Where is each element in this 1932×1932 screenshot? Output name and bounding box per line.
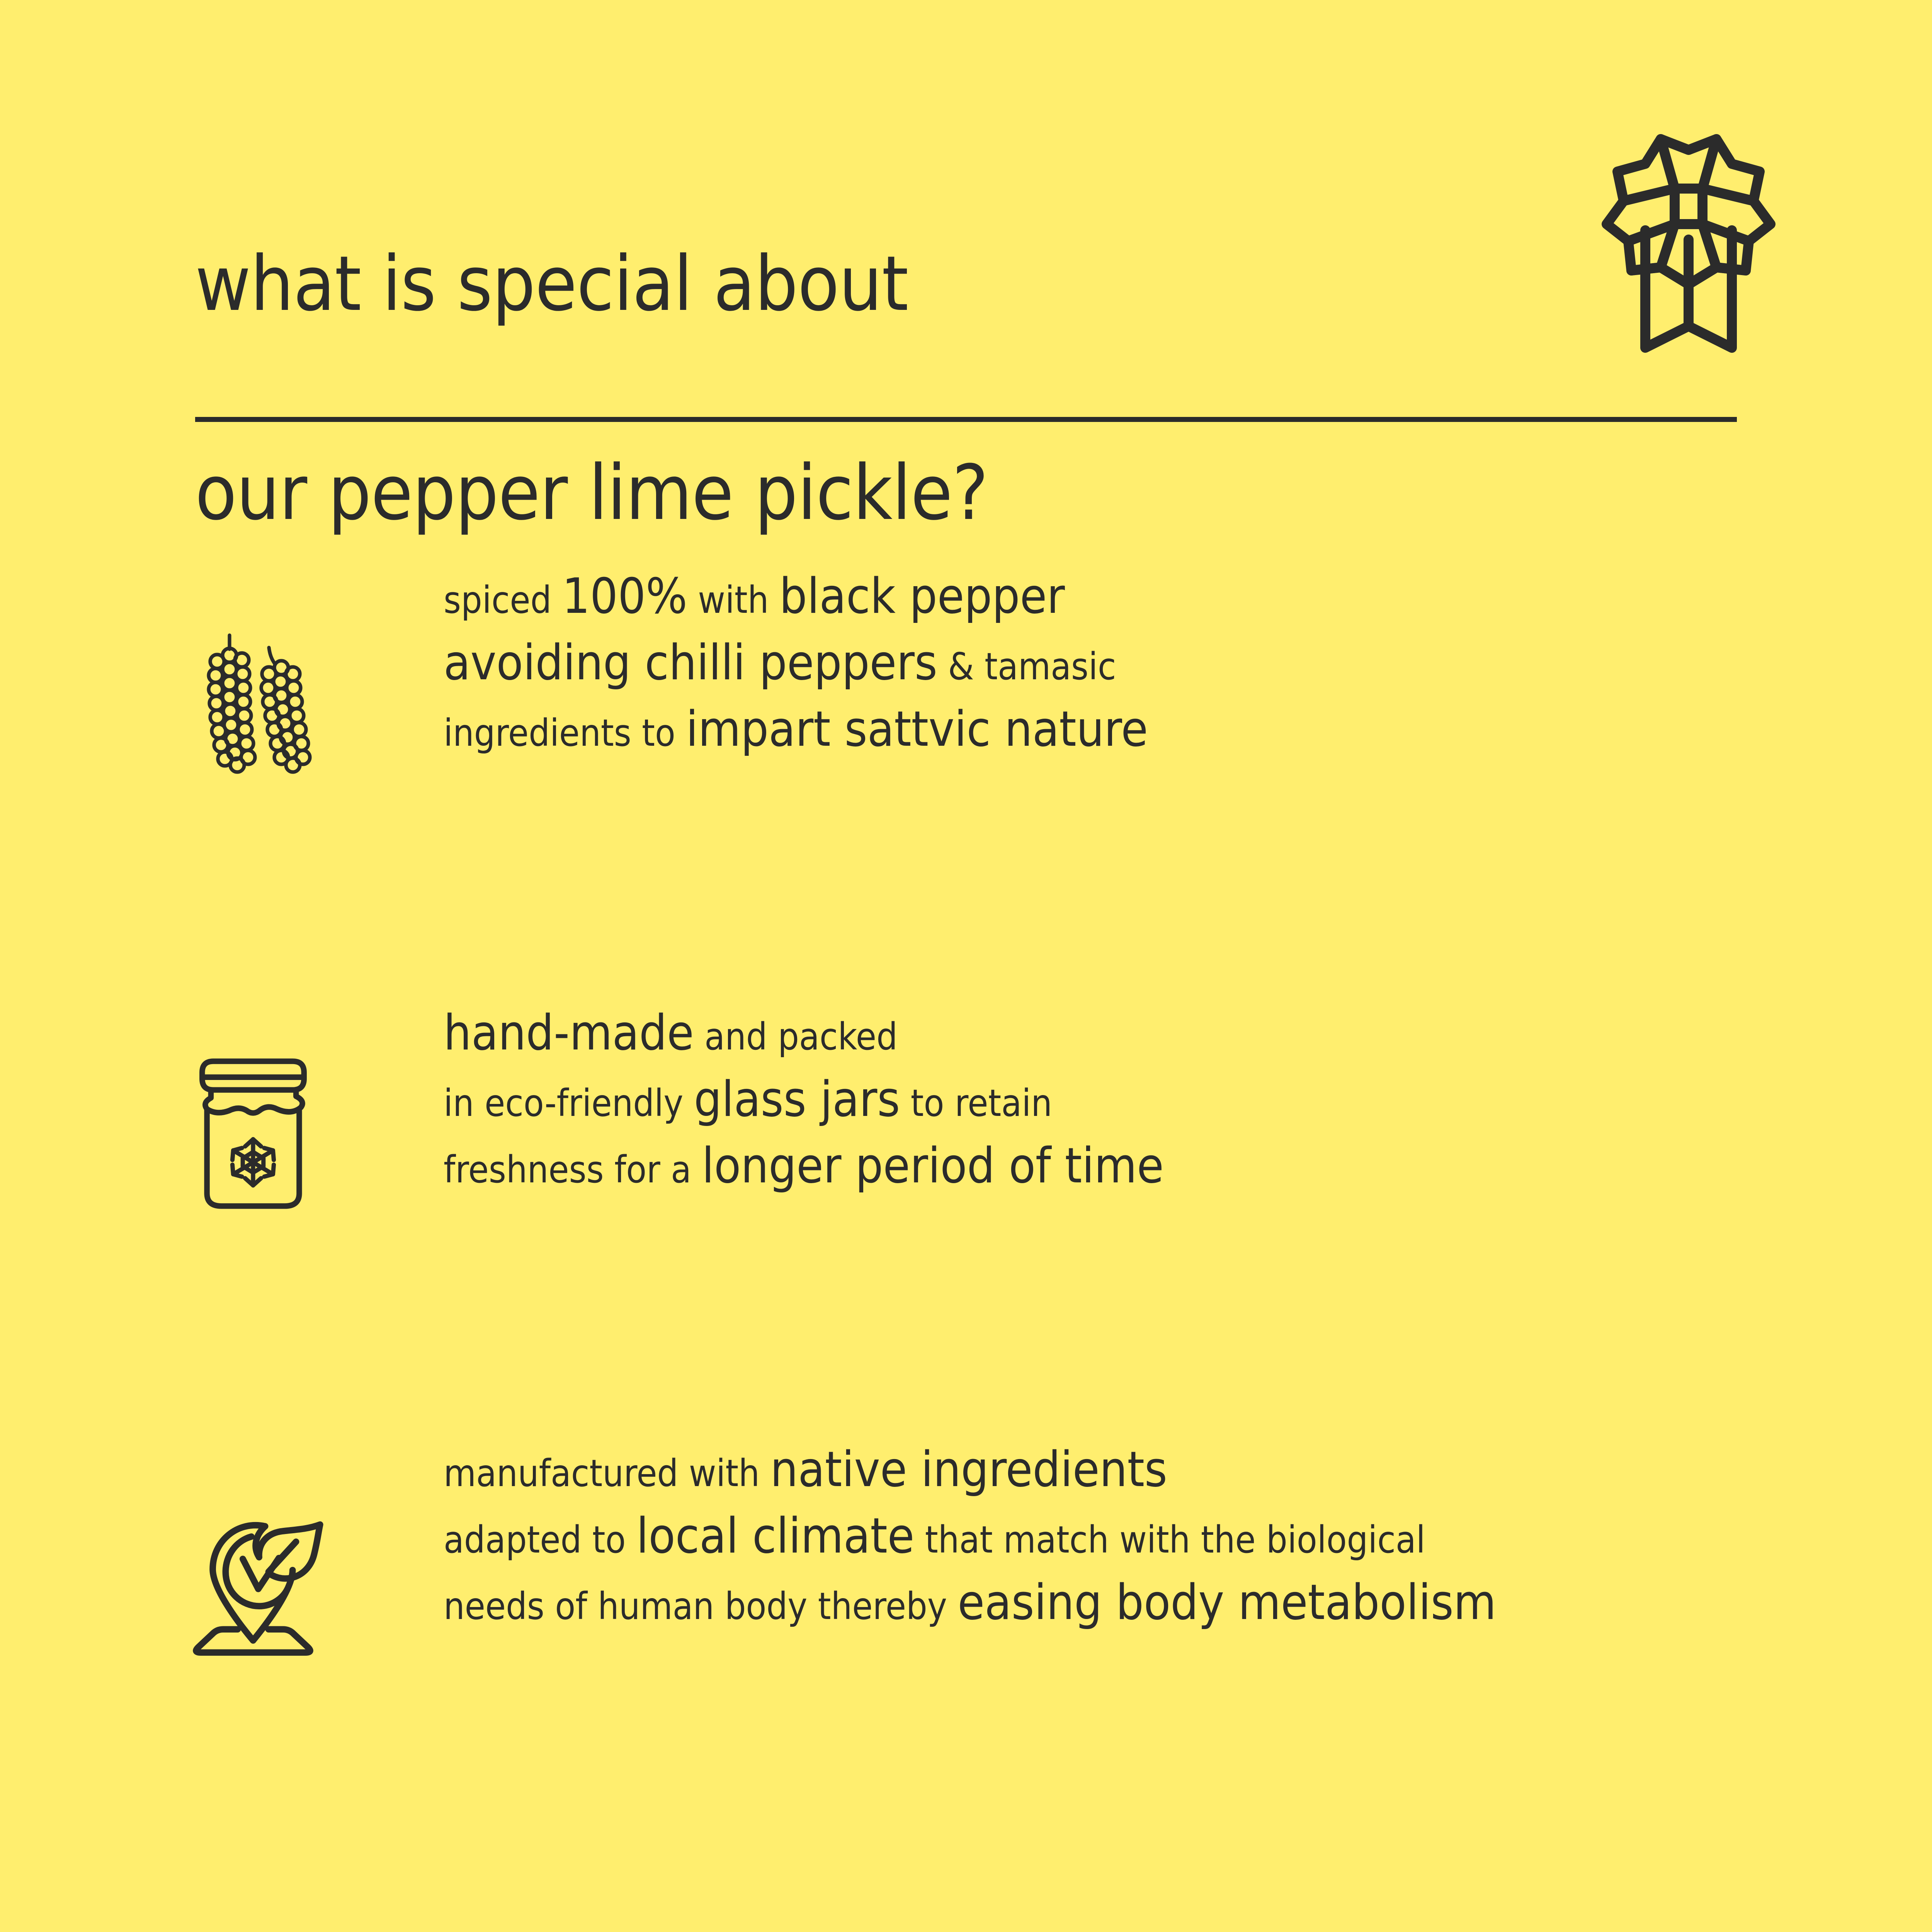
feature-3-line-2: adapted to local climate that match with… [444, 1512, 1873, 1560]
feature-3-line-3: needs of human body thereby easing body … [444, 1578, 1873, 1627]
feature-3-line-1: manufactured with native ingredients [444, 1445, 1873, 1494]
text-segment: with [687, 578, 779, 622]
location-pin-leaf-check-icon [162, 1488, 344, 1673]
feature-2-line-2: in eco-friendly glass jars to retain [444, 1075, 1873, 1124]
feature-2-line-3: freshness for a longer period of time [444, 1141, 1873, 1190]
feature-row-native-ingredients: manufactured with native ingredients ada… [0, 1445, 1932, 1882]
text-segment-emphasis: avoiding chilli peppers [444, 634, 937, 691]
text-segment: & tamasic [937, 645, 1116, 688]
feature-1-line-1: spiced 100% with black pepper [444, 572, 1873, 621]
text-segment: that match with the biological [914, 1518, 1425, 1561]
text-segment-emphasis: hand-made [444, 1004, 694, 1061]
feature-row-peppercorn: spiced 100% with black pepper avoiding c… [0, 572, 1932, 1009]
peppercorn-cluster-icon [162, 606, 344, 791]
text-segment: spiced [444, 578, 562, 622]
feature-1-copy: spiced 100% with black pepper avoiding c… [444, 572, 1873, 753]
feature-3-copy: manufactured with native ingredients ada… [444, 1445, 1873, 1627]
text-segment-emphasis: impart sattvic nature [686, 701, 1148, 757]
glass-jar-snowflake-icon [162, 1042, 344, 1227]
text-segment-emphasis: 100% [562, 568, 687, 624]
text-segment: manufactured with [444, 1452, 770, 1495]
text-segment-emphasis: native ingredients [770, 1441, 1167, 1498]
text-segment: adapted to [444, 1518, 636, 1561]
feature-2-copy: hand-made and packed in eco-friendly gla… [444, 1009, 1873, 1190]
header-divider [195, 417, 1737, 422]
poster-canvas: what is special about our pepper lime pi… [0, 0, 1932, 1932]
text-segment: freshness for a [444, 1148, 702, 1191]
text-segment-emphasis: local climate [636, 1507, 915, 1564]
feature-1-line-3: ingredients to impart sattvic nature [444, 705, 1873, 753]
feature-1-line-2: avoiding chilli peppers & tamasic [444, 638, 1873, 687]
page-title-line-2: our pepper lime pickle? [195, 441, 1737, 545]
award-rosette-icon [1580, 124, 1797, 355]
text-segment: in eco-friendly [444, 1082, 694, 1125]
feature-list: spiced 100% with black pepper avoiding c… [0, 572, 1932, 1882]
text-segment-emphasis: longer period of time [702, 1137, 1163, 1194]
page-title-line-1: what is special about [195, 232, 1737, 336]
feature-row-glass-jar: hand-made and packed in eco-friendly gla… [0, 1009, 1932, 1445]
text-segment-emphasis: black pepper [779, 568, 1065, 624]
text-segment-emphasis: easing body metabolism [957, 1574, 1496, 1631]
text-segment: and packed [694, 1015, 898, 1058]
feature-2-line-1: hand-made and packed [444, 1009, 1873, 1057]
text-segment: to retain [900, 1082, 1052, 1125]
text-segment: ingredients to [444, 711, 686, 755]
text-segment: needs of human body thereby [444, 1585, 957, 1628]
text-segment-emphasis: glass jars [694, 1071, 900, 1128]
